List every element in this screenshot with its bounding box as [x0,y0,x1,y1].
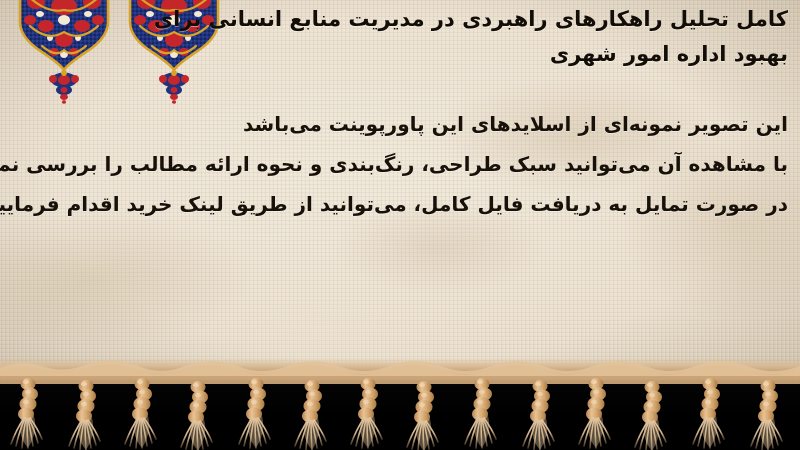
title-line-2: بهبود اداره امور شهری [228,37,788,72]
body-line-3: در صورت تمایل به دریافت فایل کامل، می‌تو… [110,184,788,224]
slide-canvas: کامل تحلیل راهکارهای راهبردی در مدیریت م… [0,0,800,450]
title-line-1: کامل تحلیل راهکارهای راهبردی در مدیریت م… [228,2,788,37]
fringe-tassels-icon [0,350,800,450]
carpet-fringe [0,350,800,450]
body-line-2: با مشاهده آن می‌توانید سبک طراحی، رنگ‌بن… [110,144,788,184]
slide-body: این تصویر نمونه‌ای از اسلایدهای این پاور… [110,104,788,224]
slide-title: کامل تحلیل راهکارهای راهبردی در مدیریت م… [228,2,788,72]
body-line-1: این تصویر نمونه‌ای از اسلایدهای این پاور… [110,104,788,144]
